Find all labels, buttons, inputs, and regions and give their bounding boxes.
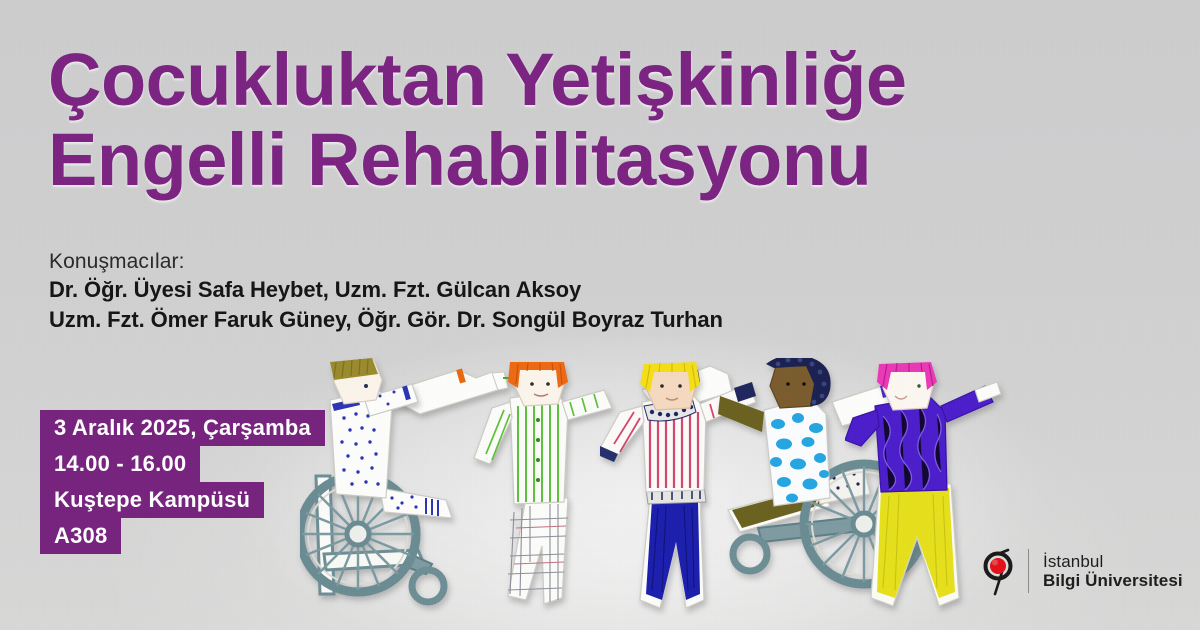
logo-line-2: Bilgi Üniversitesi [1043, 571, 1183, 590]
event-campus: Kuştepe Kampüsü [40, 482, 264, 518]
speakers-block: Konuşmacılar: Dr. Öğr. Üyesi Safa Heybet… [49, 248, 723, 335]
event-room: A308 [40, 518, 121, 554]
poster-canvas: Çocukluktan Yetişkinliğe Engelli Rehabil… [0, 0, 1200, 630]
logo-divider [1028, 549, 1029, 593]
page-title-line-2: Engelli Rehabilitasyonu [48, 120, 1158, 200]
logo-wordmark: İstanbul Bilgi Üniversitesi [1043, 552, 1183, 590]
logo-line-1: İstanbul [1043, 552, 1183, 571]
university-logo: İstanbul Bilgi Üniversitesi [978, 546, 1183, 596]
speakers-line-1: Dr. Öğr. Üyesi Safa Heybet, Uzm. Fzt. Gü… [49, 275, 723, 305]
speakers-label: Konuşmacılar: [49, 248, 723, 275]
page-title: Çocukluktan Yetişkinliğe Engelli Rehabil… [48, 40, 1158, 200]
event-time: 14.00 - 16.00 [40, 446, 200, 482]
page-title-line-1: Çocukluktan Yetişkinliğe [48, 40, 1158, 120]
speakers-line-2: Uzm. Fzt. Ömer Faruk Güney, Öğr. Gör. Dr… [49, 305, 723, 335]
bilgi-pin-logo-icon [978, 546, 1022, 596]
event-details-block: 3 Aralık 2025, Çarşamba 14.00 - 16.00 Ku… [40, 410, 325, 554]
event-date: 3 Aralık 2025, Çarşamba [40, 410, 325, 446]
